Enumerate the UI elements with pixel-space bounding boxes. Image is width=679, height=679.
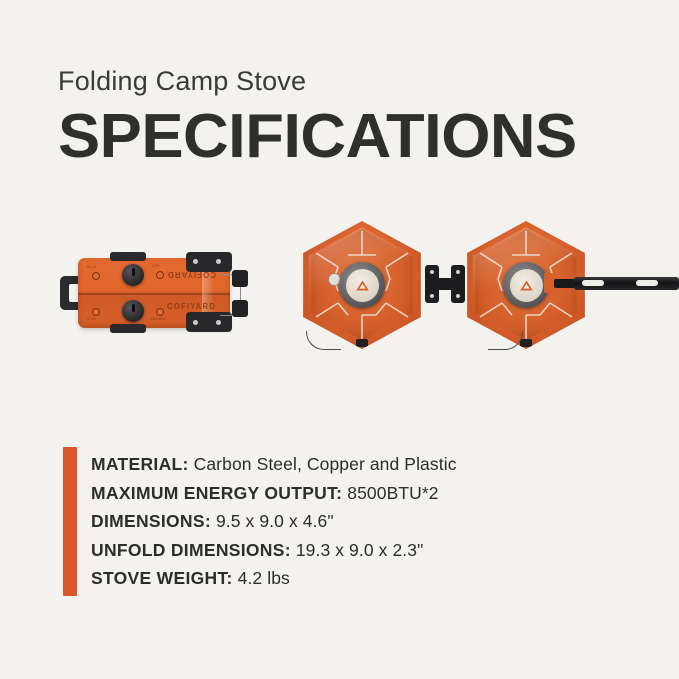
indicator-dot bbox=[156, 271, 164, 279]
screw-icon bbox=[193, 259, 198, 264]
accent-bar bbox=[63, 447, 77, 596]
spec-label: MATERIAL: bbox=[91, 454, 189, 474]
indicator-dot bbox=[156, 308, 164, 316]
burner-head-right bbox=[503, 262, 549, 308]
screw-icon bbox=[216, 320, 221, 325]
spec-value: 8500BTU*2 bbox=[347, 483, 438, 503]
hose-slot bbox=[636, 280, 658, 286]
screw-icon bbox=[430, 294, 434, 298]
spec-value: 9.5 x 9.0 x 4.6" bbox=[216, 511, 334, 531]
burner-face bbox=[346, 269, 379, 302]
spec-label: STOVE WEIGHT: bbox=[91, 568, 233, 588]
gas-hose-rail bbox=[574, 277, 679, 290]
hinge-block bbox=[186, 252, 232, 272]
latch-clasp bbox=[232, 300, 248, 317]
mountain-logo-icon bbox=[355, 279, 370, 292]
screw-icon bbox=[456, 294, 460, 298]
control-knob bbox=[122, 264, 144, 286]
knob-micro-label: OFF bbox=[152, 264, 159, 268]
spec-row: MAXIMUM ENERGY OUTPUT: 8500BTU*2 bbox=[91, 480, 457, 507]
screw-icon bbox=[456, 270, 460, 274]
burner-tab bbox=[356, 339, 368, 347]
mountain-logo-icon bbox=[519, 279, 534, 292]
spec-row: DIMENSIONS: 9.5 x 9.0 x 4.6" bbox=[91, 508, 457, 535]
burner-tab bbox=[520, 339, 532, 347]
burner-head-left bbox=[339, 262, 385, 308]
latch-clasp bbox=[232, 270, 248, 287]
support-wire bbox=[488, 331, 523, 350]
spec-sheet-page: Folding Camp Stove SPECIFICATIONS HI LO … bbox=[0, 0, 679, 679]
spec-label: DIMENSIONS: bbox=[91, 511, 211, 531]
indicator-dot bbox=[92, 272, 100, 280]
burner-cap bbox=[110, 252, 146, 261]
screw-icon bbox=[193, 320, 198, 325]
burner-face bbox=[510, 269, 543, 302]
product-image-stage: HI LO OFF HI LO MAX MIN COFIYARD COFIYAR… bbox=[0, 205, 679, 390]
spec-row: UNFOLD DIMENSIONS: 19.3 x 9.0 x 2.3" bbox=[91, 537, 457, 564]
spec-row: STOVE WEIGHT: 4.2 lbs bbox=[91, 565, 457, 592]
screw-icon bbox=[430, 270, 434, 274]
knob-micro-label: MAX MIN bbox=[150, 317, 165, 321]
spec-label: UNFOLD DIMENSIONS: bbox=[91, 540, 291, 560]
control-knob bbox=[122, 300, 144, 322]
indicator-dot bbox=[92, 308, 100, 316]
specifications-block: MATERIAL: Carbon Steel, Copper and Plast… bbox=[63, 447, 457, 596]
spec-value: 19.3 x 9.0 x 2.3" bbox=[296, 540, 424, 560]
spec-value: 4.2 lbs bbox=[238, 568, 290, 588]
spec-label: MAXIMUM ENERGY OUTPUT: bbox=[91, 483, 342, 503]
page-title: SPECIFICATIONS bbox=[58, 106, 629, 168]
support-wire bbox=[306, 331, 341, 350]
burner-housing-left bbox=[298, 221, 426, 349]
spec-row: MATERIAL: Carbon Steel, Copper and Plast… bbox=[91, 451, 457, 478]
knob-micro-label: HI LO bbox=[87, 317, 96, 321]
header: Folding Camp Stove SPECIFICATIONS bbox=[58, 66, 618, 168]
brand-logo-text: COFIYARD bbox=[167, 302, 216, 311]
specification-list: MATERIAL: Carbon Steel, Copper and Plast… bbox=[91, 447, 457, 596]
burner-cap bbox=[110, 324, 146, 333]
spec-value: Carbon Steel, Copper and Plastic bbox=[194, 454, 457, 474]
screw-icon bbox=[216, 259, 221, 264]
center-hinge-bracket bbox=[425, 265, 465, 303]
knob-micro-label: HI LO bbox=[87, 265, 96, 269]
product-subtitle: Folding Camp Stove bbox=[58, 66, 618, 97]
hose-slot bbox=[582, 280, 604, 286]
product-image-unfolded-stove bbox=[292, 213, 679, 358]
product-image-folded-stove: HI LO OFF HI LO MAX MIN COFIYARD COFIYAR… bbox=[60, 250, 255, 335]
hinge-plate bbox=[451, 265, 465, 303]
